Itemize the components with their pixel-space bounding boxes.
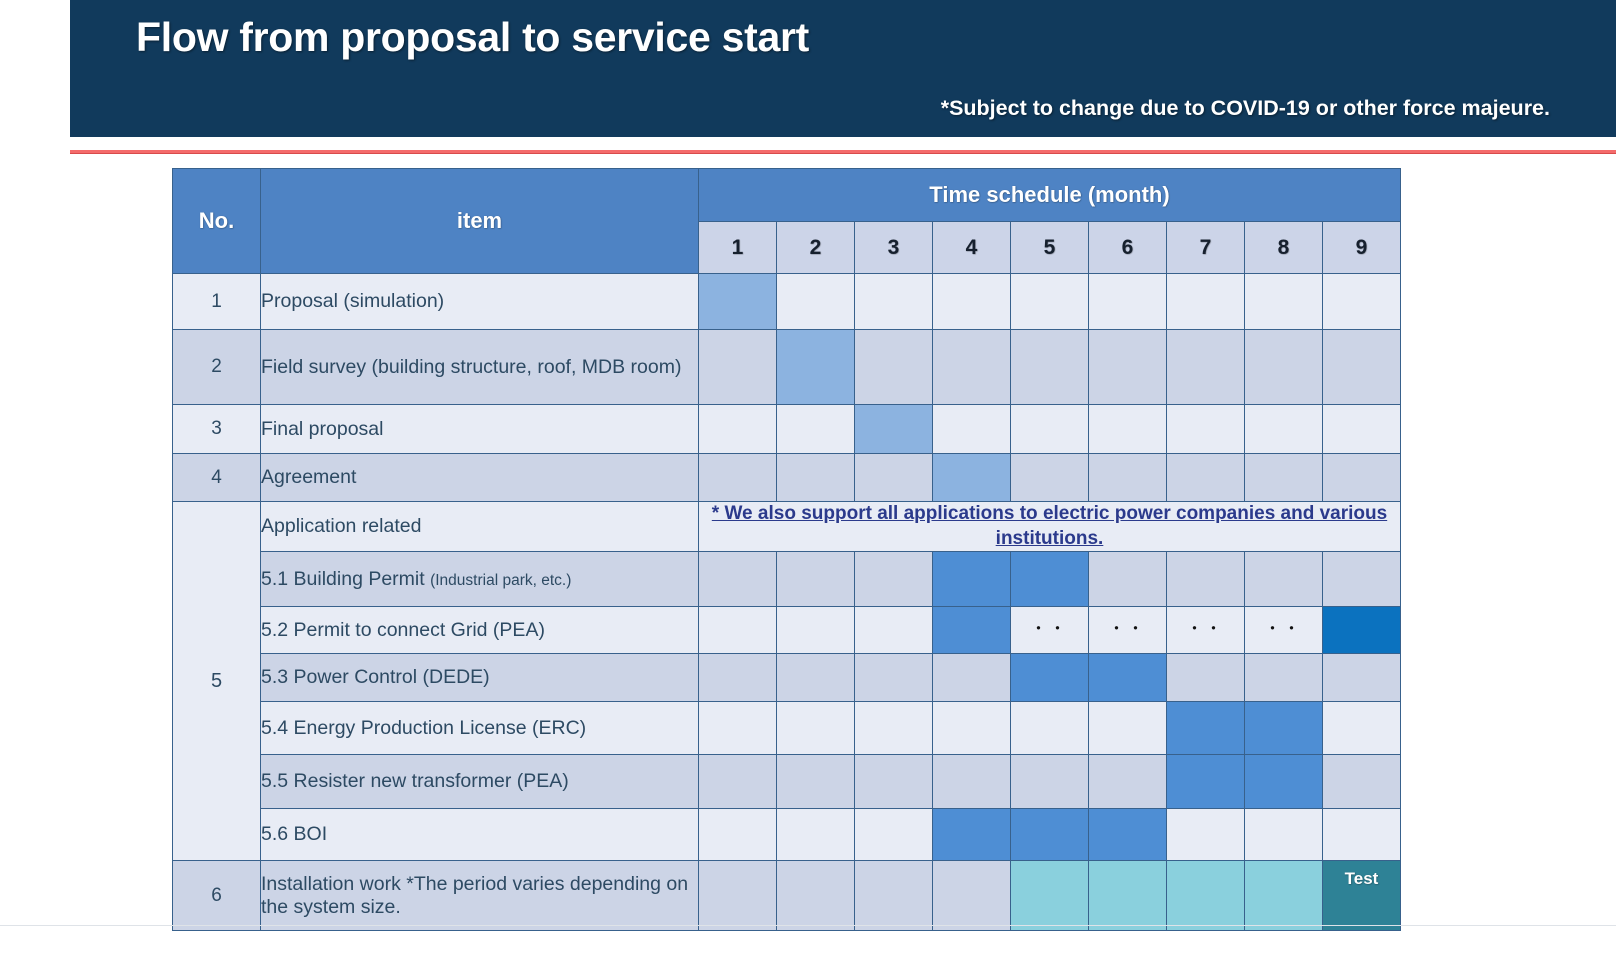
gantt-cell-r56-m6: [1089, 809, 1167, 861]
gantt-cell-r56-m4: [933, 809, 1011, 861]
gantt-cell-r56-m2: [777, 809, 855, 861]
gantt-cell-r53-m2: [777, 654, 855, 702]
page-subtitle: *Subject to change due to COVID-19 or ot…: [941, 96, 1550, 121]
month-header-9: 9: [1323, 222, 1401, 274]
gantt-cell-r53-m4: [933, 654, 1011, 702]
gantt-cell-r3-m5: [1011, 405, 1089, 454]
month-header-6: 6: [1089, 222, 1167, 274]
gantt-cell-r53-m7: [1167, 654, 1245, 702]
gantt-cell-r52-m1: [699, 607, 777, 654]
gantt-cell-r3-m7: [1167, 405, 1245, 454]
gantt-cell-r4-m4: [933, 454, 1011, 502]
gantt-cell-r4-m7: [1167, 454, 1245, 502]
month-header-7: 7: [1167, 222, 1245, 274]
gantt-cell-r6-m3: [855, 861, 933, 931]
gantt-cell-r4-m9: [1323, 454, 1401, 502]
gantt-cell-r4-m5: [1011, 454, 1089, 502]
gantt-cell-r52-m6: ・・: [1089, 607, 1167, 654]
row-item-label: 5.6 BOI: [261, 809, 699, 861]
table-row: 2 Field survey (building structure, roof…: [173, 330, 1401, 405]
row-item-main: 5.1 Building Permit: [261, 568, 430, 590]
gantt-cell-r3-m1: [699, 405, 777, 454]
row-item-label: 5.4 Energy Production License (ERC): [261, 702, 699, 755]
row-item-label: Agreement: [261, 454, 699, 502]
gantt-cell-r51-m3: [855, 552, 933, 607]
row-number: 6: [173, 861, 261, 931]
column-header-no: No.: [173, 169, 261, 274]
table-row: 5 Application related * We also support …: [173, 502, 1401, 552]
gantt-cell-r4-m1: [699, 454, 777, 502]
gantt-cell-r1-m1: [699, 274, 777, 330]
gantt-cell-r55-m7: [1167, 755, 1245, 809]
table-row: 5.5 Resister new transformer (PEA): [173, 755, 1401, 809]
gantt-cell-r54-m5: [1011, 702, 1089, 755]
gantt-cell-r52-m4: [933, 607, 1011, 654]
gantt-cell-r2-m3: [855, 330, 933, 405]
month-header-8: 8: [1245, 222, 1323, 274]
gantt-cell-r1-m9: [1323, 274, 1401, 330]
gantt-cell-r4-m3: [855, 454, 933, 502]
support-note-text: * We also support all applications to el…: [712, 503, 1387, 549]
gantt-cell-r1-m3: [855, 274, 933, 330]
gantt-cell-r55-m3: [855, 755, 933, 809]
gantt-cell-r6-m1: [699, 861, 777, 931]
row-number: 4: [173, 454, 261, 502]
gantt-cell-r55-m5: [1011, 755, 1089, 809]
row-item-label: 5.3 Power Control (DEDE): [261, 654, 699, 702]
gantt-cell-r2-m4: [933, 330, 1011, 405]
gantt-cell-r6-m6: [1089, 861, 1167, 931]
gantt-cell-r51-m8: [1245, 552, 1323, 607]
page-title: Flow from proposal to service start: [136, 14, 809, 61]
gantt-cell-r2-m9: [1323, 330, 1401, 405]
gantt-cell-r1-m5: [1011, 274, 1089, 330]
gantt-cell-r2-m7: [1167, 330, 1245, 405]
gantt-cell-r2-m5: [1011, 330, 1089, 405]
gantt-cell-r55-m2: [777, 755, 855, 809]
gantt-cell-r53-m6: [1089, 654, 1167, 702]
column-group-header-time-schedule: Time schedule (month): [699, 169, 1401, 222]
row-number: 3: [173, 405, 261, 454]
gantt-cell-r51-m2: [777, 552, 855, 607]
gantt-cell-r1-m2: [777, 274, 855, 330]
gantt-cell-r4-m8: [1245, 454, 1323, 502]
gantt-cell-r56-m1: [699, 809, 777, 861]
gantt-cell-r53-m9: [1323, 654, 1401, 702]
gantt-cell-r6-m4: [933, 861, 1011, 931]
gantt-cell-r51-m4: [933, 552, 1011, 607]
schedule-table: No. item Time schedule (month) 1 2 3 4 5…: [172, 168, 1401, 931]
gantt-cell-r56-m3: [855, 809, 933, 861]
gantt-cell-r55-m6: [1089, 755, 1167, 809]
month-header-1: 1: [699, 222, 777, 274]
table-row: 5.2 Permit to connect Grid (PEA) ・・ ・・ ・…: [173, 607, 1401, 654]
row-number-group-5: 5: [173, 502, 261, 861]
gantt-cell-r54-m6: [1089, 702, 1167, 755]
header-banner: Flow from proposal to service start *Sub…: [70, 0, 1616, 137]
gantt-cell-r52-m9: [1323, 607, 1401, 654]
header-accent-rule-shadow: [70, 153, 1616, 154]
gantt-cell-r51-m7: [1167, 552, 1245, 607]
gantt-cell-r51-m9: [1323, 552, 1401, 607]
gantt-cell-r1-m6: [1089, 274, 1167, 330]
row-item-label: Installation work *The period varies dep…: [261, 861, 699, 931]
gantt-cell-r54-m9: [1323, 702, 1401, 755]
support-note-cell: * We also support all applications to el…: [699, 502, 1401, 552]
table-row: 6 Installation work *The period varies d…: [173, 861, 1401, 931]
gantt-cell-r52-m2: [777, 607, 855, 654]
table-row: 5.4 Energy Production License (ERC): [173, 702, 1401, 755]
row-number: 1: [173, 274, 261, 330]
gantt-cell-r3-m4: [933, 405, 1011, 454]
gantt-cell-r52-m5: ・・: [1011, 607, 1089, 654]
gantt-cell-r6-m5: [1011, 861, 1089, 931]
table-row: 5.3 Power Control (DEDE): [173, 654, 1401, 702]
table-row: 3 Final proposal: [173, 405, 1401, 454]
row-item-label: 5.1 Building Permit (Industrial park, et…: [261, 552, 699, 607]
gantt-cell-r2-m2: [777, 330, 855, 405]
table-row: 5.6 BOI: [173, 809, 1401, 861]
row-number: 2: [173, 330, 261, 405]
month-header-2: 2: [777, 222, 855, 274]
month-header-4: 4: [933, 222, 1011, 274]
month-header-3: 3: [855, 222, 933, 274]
gantt-cell-r56-m8: [1245, 809, 1323, 861]
gantt-cell-r51-m6: [1089, 552, 1167, 607]
gantt-cell-r2-m1: [699, 330, 777, 405]
gantt-cell-r52-m8: ・・: [1245, 607, 1323, 654]
gantt-cell-r1-m7: [1167, 274, 1245, 330]
gantt-cell-r54-m2: [777, 702, 855, 755]
gantt-cell-r6-m9-test: Test: [1323, 861, 1401, 931]
footer-divider: [0, 925, 1616, 926]
gantt-cell-r54-m8: [1245, 702, 1323, 755]
month-header-5: 5: [1011, 222, 1089, 274]
gantt-cell-r56-m9: [1323, 809, 1401, 861]
table-row: 4 Agreement: [173, 454, 1401, 502]
gantt-cell-r4-m2: [777, 454, 855, 502]
gantt-cell-r55-m1: [699, 755, 777, 809]
gantt-cell-r6-m2: [777, 861, 855, 931]
gantt-cell-r1-m8: [1245, 274, 1323, 330]
gantt-cell-r51-m5: [1011, 552, 1089, 607]
gantt-cell-r52-m7: ・・: [1167, 607, 1245, 654]
row-item-subtext: (Industrial park, etc.): [430, 572, 571, 589]
gantt-cell-r3-m8: [1245, 405, 1323, 454]
gantt-cell-r56-m5: [1011, 809, 1089, 861]
gantt-cell-r53-m1: [699, 654, 777, 702]
row-item-label: Application related: [261, 502, 699, 552]
table-row: 1 Proposal (simulation): [173, 274, 1401, 330]
row-item-label: Proposal (simulation): [261, 274, 699, 330]
gantt-cell-r52-m3: [855, 607, 933, 654]
gantt-cell-r55-m8: [1245, 755, 1323, 809]
row-item-label: Final proposal: [261, 405, 699, 454]
gantt-cell-r53-m5: [1011, 654, 1089, 702]
gantt-cell-r6-m7: [1167, 861, 1245, 931]
gantt-cell-r3-m6: [1089, 405, 1167, 454]
gantt-cell-r2-m8: [1245, 330, 1323, 405]
column-header-item: item: [261, 169, 699, 274]
gantt-cell-r55-m9: [1323, 755, 1401, 809]
table-row: 5.1 Building Permit (Industrial park, et…: [173, 552, 1401, 607]
gantt-cell-r51-m1: [699, 552, 777, 607]
row-item-label: 5.5 Resister new transformer (PEA): [261, 755, 699, 809]
gantt-cell-r4-m6: [1089, 454, 1167, 502]
gantt-cell-r2-m6: [1089, 330, 1167, 405]
gantt-cell-r54-m1: [699, 702, 777, 755]
table-header-row-1: No. item Time schedule (month): [173, 169, 1401, 222]
gantt-cell-r6-m8: [1245, 861, 1323, 931]
gantt-cell-r56-m7: [1167, 809, 1245, 861]
gantt-cell-r3-m2: [777, 405, 855, 454]
gantt-cell-r55-m4: [933, 755, 1011, 809]
gantt-cell-r54-m7: [1167, 702, 1245, 755]
gantt-cell-r3-m9: [1323, 405, 1401, 454]
gantt-cell-r53-m8: [1245, 654, 1323, 702]
row-item-label: Field survey (building structure, roof, …: [261, 330, 699, 405]
row-item-label: 5.2 Permit to connect Grid (PEA): [261, 607, 699, 654]
gantt-cell-r54-m4: [933, 702, 1011, 755]
gantt-cell-r3-m3: [855, 405, 933, 454]
gantt-cell-r1-m4: [933, 274, 1011, 330]
gantt-cell-r54-m3: [855, 702, 933, 755]
gantt-cell-r53-m3: [855, 654, 933, 702]
